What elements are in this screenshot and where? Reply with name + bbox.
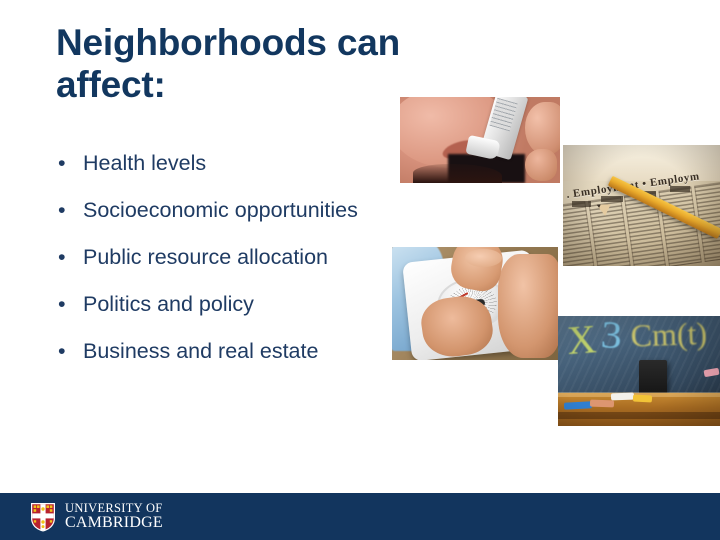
bullet-dot-icon: •: [58, 291, 66, 319]
cambridge-crest-icon: [30, 502, 56, 532]
chalkboard-photo: X 3 Cm(t): [558, 316, 720, 426]
university-brand: UNIVERSITY OF CAMBRIDGE: [30, 502, 163, 532]
footer-bar: UNIVERSITY OF CAMBRIDGE: [0, 493, 720, 540]
list-item: • Business and real estate: [56, 338, 406, 366]
list-item: • Socioeconomic opportunities: [56, 197, 406, 225]
bullet-dot-icon: •: [58, 197, 66, 225]
bullet-dot-icon: •: [58, 150, 66, 178]
university-name: UNIVERSITY OF CAMBRIDGE: [65, 502, 163, 531]
bullet-list: • Health levels • Socioeconomic opportun…: [56, 150, 406, 366]
list-item-label: Socioeconomic opportunities: [83, 198, 358, 222]
employment-classifieds-photo: . Employment • Employm: [563, 145, 720, 266]
university-name-line2: CAMBRIDGE: [65, 515, 163, 531]
page-title: Neighborhoods can affect:: [56, 22, 476, 106]
list-item-label: Politics and policy: [83, 292, 254, 316]
bullet-dot-icon: •: [58, 244, 66, 272]
list-item-label: Public resource allocation: [83, 245, 328, 269]
slide: Neighborhoods can affect: • Health level…: [0, 0, 720, 540]
list-item: • Health levels: [56, 150, 406, 178]
list-item: • Politics and policy: [56, 291, 406, 319]
bullet-dot-icon: •: [58, 338, 66, 366]
bathroom-scale-photo: [392, 247, 558, 360]
inhaler-photo: [400, 97, 560, 183]
list-item-label: Health levels: [83, 151, 206, 175]
list-item: • Public resource allocation: [56, 244, 406, 272]
list-item-label: Business and real estate: [83, 339, 318, 363]
